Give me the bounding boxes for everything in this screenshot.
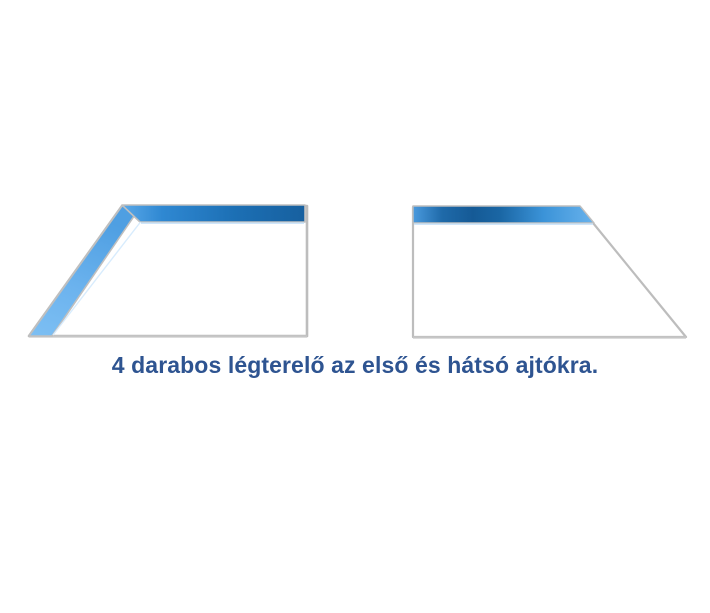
product-caption: 4 darabos légterelő az első és hátsó ajt… <box>0 352 710 379</box>
wind-deflector-illustration <box>0 0 710 360</box>
front-door-deflector-shape <box>29 205 307 337</box>
rear-deflector-outline <box>413 207 686 337</box>
front-deflector-outline <box>29 206 307 336</box>
product-image-canvas: 4 darabos légterelő az első és hátsó ajt… <box>0 0 710 613</box>
rear-deflector-top-band <box>413 206 594 223</box>
rear-door-deflector-shape <box>413 206 686 338</box>
front-deflector-top-band <box>122 205 305 222</box>
